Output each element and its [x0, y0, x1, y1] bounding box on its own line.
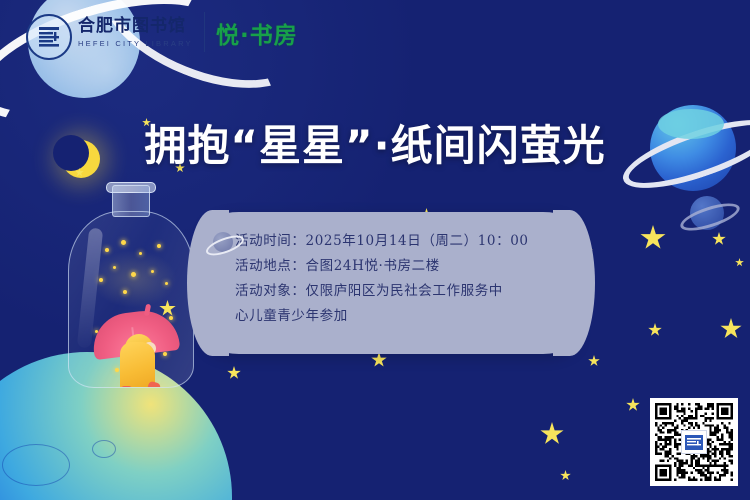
star-icon — [720, 318, 742, 340]
star-icon — [640, 225, 666, 251]
event-time-line: 活动时间：2025年10月14日（周二）10：00 — [235, 229, 555, 254]
small-ringed-planet-icon — [690, 196, 724, 230]
child-leg-left — [121, 386, 132, 388]
star-icon — [626, 398, 640, 412]
bottle-body — [68, 211, 194, 388]
event-location-line: 活动地点：合图24H悦·书房二楼 — [235, 254, 555, 279]
poster-canvas: 合肥市图书馆 HEFEI CITY LIBRARY 悦·书房 — [0, 0, 750, 500]
firefly-spark — [131, 272, 136, 277]
event-info-lines: 活动时间：2025年10月14日（周二）10：00 活动地点：合图24H悦·书房… — [235, 229, 555, 329]
child-in-raincoat-icon — [93, 298, 181, 388]
library-name-cn: 合肥市图书馆 — [78, 18, 193, 35]
logo-divider — [204, 12, 205, 52]
event-audience-line-cont: 心儿童青少年参加 — [235, 304, 555, 329]
firefly-spark — [139, 252, 142, 255]
star-icon — [712, 232, 726, 246]
ringed-planet-icon — [213, 232, 233, 252]
star-icon — [560, 470, 571, 481]
star-icon — [371, 352, 387, 368]
star-icon — [227, 366, 241, 380]
planet-crater — [2, 444, 70, 486]
firefly-spark — [157, 244, 161, 248]
firefly-spark — [113, 266, 116, 269]
firefly-spark — [99, 278, 103, 282]
star-icon — [588, 355, 600, 367]
library-seal-icon — [26, 14, 72, 60]
firefly-spark — [121, 240, 126, 245]
planet-crater — [92, 440, 116, 458]
library-wordmark: 合肥市图书馆 HEFEI CITY LIBRARY — [78, 18, 193, 48]
firefly-spark — [151, 270, 154, 273]
star-icon — [735, 258, 744, 267]
star-icon — [648, 323, 662, 337]
glass-bottle-icon — [64, 185, 194, 390]
firefly-spark — [123, 290, 127, 294]
library-name-en: HEFEI CITY LIBRARY — [78, 39, 193, 48]
firefly-spark — [165, 282, 168, 285]
event-audience-line: 活动对象：仅限庐阳区为民社会工作服务中 — [235, 279, 555, 304]
sub-brand-label: 悦·书房 — [216, 16, 298, 50]
library-logo-icon — [681, 430, 707, 454]
event-info-panel: 活动时间：2025年10月14日（周二）10：00 活动地点：合图24H悦·书房… — [205, 212, 577, 354]
qr-code[interactable] — [650, 398, 738, 486]
firefly-spark — [105, 248, 109, 252]
star-icon — [540, 422, 564, 446]
header-logo-block: 合肥市图书馆 HEFEI CITY LIBRARY 悦·书房 — [0, 0, 300, 95]
